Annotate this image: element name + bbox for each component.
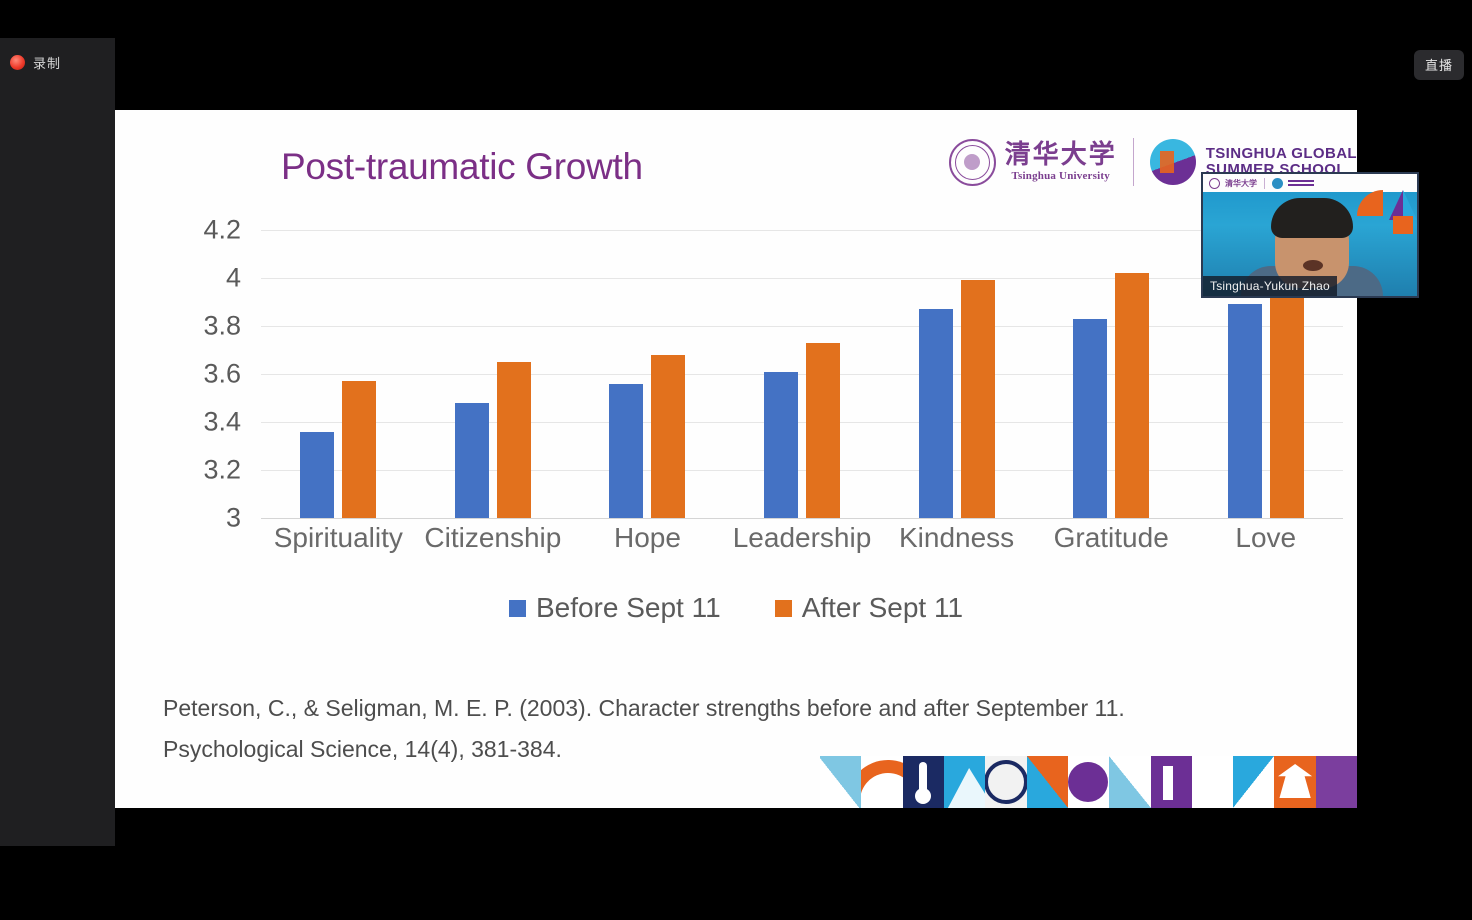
bar-groups bbox=[261, 230, 1343, 518]
recording-label: 录制 bbox=[33, 53, 61, 72]
bar-after bbox=[961, 280, 995, 518]
participant-hair bbox=[1271, 198, 1353, 238]
bar-group bbox=[1034, 230, 1189, 518]
x-axis-label: Leadership bbox=[725, 522, 880, 554]
bar-group bbox=[879, 230, 1034, 518]
y-axis: 4.243.83.63.43.23 bbox=[175, 230, 251, 518]
tsinghua-name-en: Tsinghua University bbox=[1011, 170, 1109, 182]
y-axis-tick: 4.2 bbox=[203, 215, 241, 246]
participant-name-label: Tsinghua-Yukun Zhao bbox=[1203, 276, 1337, 296]
banner-monument-icon bbox=[1151, 756, 1192, 808]
bar-before bbox=[1073, 319, 1107, 518]
recording-indicator[interactable]: 录制 bbox=[10, 53, 61, 72]
y-axis-tick: 3.6 bbox=[203, 359, 241, 390]
participant-mouth bbox=[1303, 260, 1323, 271]
y-axis-tick: 3.2 bbox=[203, 455, 241, 486]
x-axis-label: Love bbox=[1188, 522, 1343, 554]
bar-group bbox=[725, 230, 880, 518]
bar-before bbox=[1228, 304, 1262, 518]
banner-globe-icon bbox=[985, 756, 1026, 808]
video-summer-school-text-icon bbox=[1288, 180, 1314, 186]
bar-group bbox=[570, 230, 725, 518]
y-axis-tick: 4 bbox=[226, 263, 241, 294]
decorative-banner bbox=[820, 756, 1357, 808]
bar-before bbox=[764, 372, 798, 518]
bar-before bbox=[609, 384, 643, 518]
banner-diagonal-icon bbox=[1027, 756, 1068, 808]
tsinghua-wordmark: 清华大学 Tsinghua University bbox=[1005, 142, 1117, 182]
legend-swatch bbox=[509, 600, 526, 617]
banner-triangle2-icon bbox=[1109, 756, 1150, 808]
x-axis-label: Kindness bbox=[879, 522, 1034, 554]
x-axis-label: Gratitude bbox=[1034, 522, 1189, 554]
legend-label: Before Sept 11 bbox=[536, 592, 721, 624]
banner-arc-icon bbox=[861, 756, 902, 808]
video-decor-shapes bbox=[1355, 190, 1417, 234]
legend-swatch bbox=[775, 600, 792, 617]
summer-school-mark-icon bbox=[1150, 139, 1196, 185]
bar-after bbox=[342, 381, 376, 518]
tsinghua-seal-icon bbox=[949, 139, 996, 186]
bar-group bbox=[261, 230, 416, 518]
left-sidebar-panel bbox=[0, 38, 115, 846]
banner-triangle-icon bbox=[820, 756, 861, 808]
presentation-slide: Post-traumatic Growth 清华大学 Tsinghua Univ… bbox=[115, 110, 1357, 808]
banner-halfcircle-icon bbox=[1068, 756, 1109, 808]
video-tsinghua-seal-icon bbox=[1209, 178, 1220, 189]
live-label: 直播 bbox=[1425, 58, 1453, 73]
summer-school-line1: TSINGHUA GLOBAL bbox=[1206, 146, 1357, 163]
y-axis-tick: 3 bbox=[226, 503, 241, 534]
x-axis-label: Hope bbox=[570, 522, 725, 554]
plot-area bbox=[261, 230, 1343, 518]
banner-opera-house-icon bbox=[944, 756, 985, 808]
bar-after bbox=[651, 355, 685, 518]
bar-after bbox=[1270, 266, 1304, 518]
video-logo-divider bbox=[1264, 178, 1265, 189]
zoom-screen-share-view: 录制 直播 Post-traumatic Growth 清华大学 Tsinghu… bbox=[0, 0, 1472, 920]
video-summer-school-mark-icon bbox=[1272, 178, 1283, 189]
slide-title: Post-traumatic Growth bbox=[281, 146, 643, 188]
bar-group bbox=[416, 230, 571, 518]
x-axis-label: Spirituality bbox=[261, 522, 416, 554]
tsinghua-name-cn: 清华大学 bbox=[1005, 142, 1117, 168]
chart-legend: Before Sept 11After Sept 11 bbox=[115, 592, 1357, 624]
legend-item: Before Sept 11 bbox=[509, 592, 721, 624]
bar-chart: 4.243.83.63.43.23 SpiritualityCitizenshi… bbox=[175, 230, 1355, 560]
banner-ring-icon bbox=[1192, 756, 1233, 808]
bar-after bbox=[1115, 273, 1149, 518]
recording-dot-icon bbox=[10, 55, 25, 70]
participant-video-tile[interactable]: 清华大学 Tsinghua-Yukun Zhao bbox=[1201, 172, 1419, 298]
tsinghua-university-logo: 清华大学 Tsinghua University bbox=[949, 139, 1133, 186]
x-axis-label: Citizenship bbox=[416, 522, 571, 554]
gridline bbox=[261, 518, 1343, 519]
banner-stripe-icon bbox=[1233, 756, 1274, 808]
banner-solid-icon bbox=[1316, 756, 1357, 808]
x-axis-labels: SpiritualityCitizenshipHopeLeadershipKin… bbox=[261, 522, 1343, 554]
live-badge[interactable]: 直播 bbox=[1414, 50, 1464, 80]
video-tsinghua-name-cn: 清华大学 bbox=[1225, 178, 1257, 189]
bar-after bbox=[497, 362, 531, 518]
y-axis-tick: 3.8 bbox=[203, 311, 241, 342]
bar-before bbox=[919, 309, 953, 518]
bar-after bbox=[806, 343, 840, 518]
banner-bigben-icon bbox=[903, 756, 944, 808]
legend-label: After Sept 11 bbox=[802, 592, 963, 624]
y-axis-tick: 3.4 bbox=[203, 407, 241, 438]
banner-temple-icon bbox=[1274, 756, 1315, 808]
bar-before bbox=[455, 403, 489, 518]
bar-before bbox=[300, 432, 334, 518]
legend-item: After Sept 11 bbox=[775, 592, 963, 624]
